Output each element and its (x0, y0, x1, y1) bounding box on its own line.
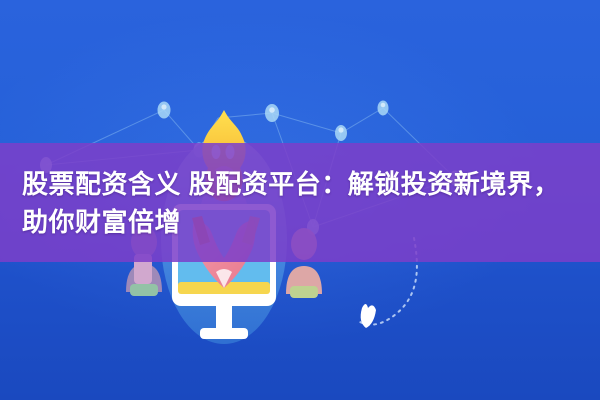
banner-canvas: 股票配资含义 股配资平台：解锁投资新境界，助你财富倍增 (0, 0, 600, 400)
page-title: 股票配资含义 股配资平台：解锁投资新境界，助你财富倍增 (0, 143, 600, 262)
